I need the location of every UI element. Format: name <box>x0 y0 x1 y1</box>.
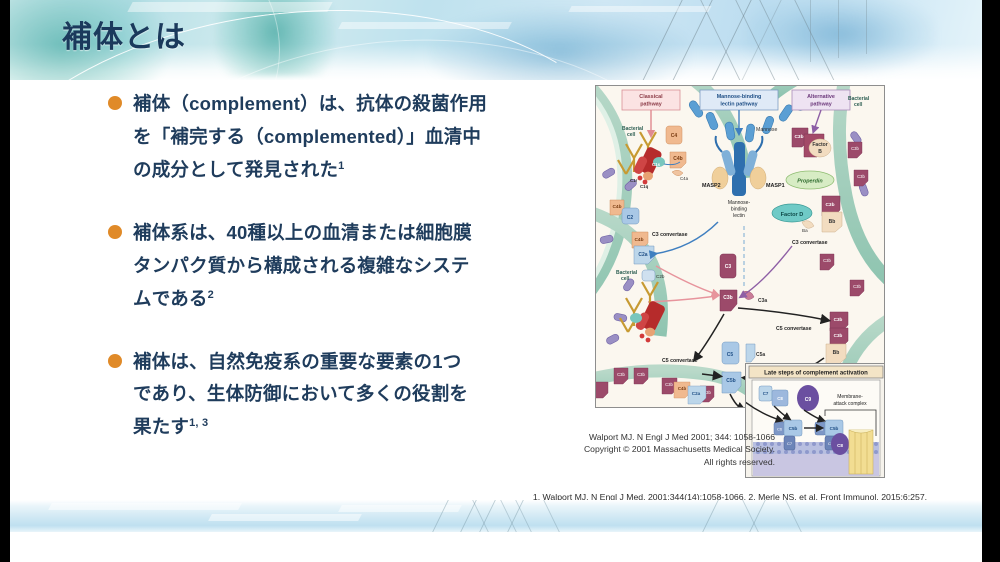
label-mac-line1: Membrane- <box>837 394 863 400</box>
label-alternative-pathway-line1: Alternative <box>807 94 835 100</box>
label-c1q: C1q <box>640 184 649 189</box>
label-bb-2: Bb <box>833 350 840 356</box>
label-ba: Ba <box>802 228 808 233</box>
bullet-3-superscript: 1, 3 <box>189 417 208 429</box>
label-inset-c8: C8 <box>777 396 783 401</box>
label-c4b-2: C4b <box>612 204 621 210</box>
bullet-1-line-1: 補体（complement）は、抗体の殺菌作用 <box>133 93 487 114</box>
label-inset-c5b-1: C5b <box>789 426 798 431</box>
bullet-dot-icon <box>108 225 122 239</box>
label-c4b-c5cl: C4b <box>678 386 687 391</box>
bullet-2-line-1: 補体系は、40種以上の血清または細胞膜 <box>133 222 472 243</box>
label-lectin-pathway-line1: Mannose-binding <box>717 94 762 100</box>
complement-pathway-figure: Classical pathway Mannose-binding lectin… <box>595 85 885 485</box>
label-alternative-pathway-line2: pathway <box>810 102 832 108</box>
pathway-diagram-svg: Classical pathway Mannose-binding lectin… <box>596 86 885 408</box>
header-stripe-1 <box>127 2 332 12</box>
label-classical-pathway-line1: Classical <box>639 94 663 100</box>
label-c3b-d2: C3b <box>857 174 865 179</box>
bullet-3-line-1: 補体は、自然免疫系の重要な要素の1つ <box>133 351 461 372</box>
bullet-text-3: 補体は、自然免疫系の重要な要素の1つ であり、生体防御において多くの役割を 果た… <box>133 346 468 445</box>
credit-line-3: All rights reserved. <box>540 456 775 468</box>
page-title: 補体とは <box>62 20 186 56</box>
label-c3-convertase-classical: C3 convertase <box>652 232 688 238</box>
label-factor-b-line2: B <box>818 149 822 155</box>
bullet-item-3: 補体は、自然免疫系の重要な要素の1つ であり、生体防御において多くの役割を 果た… <box>108 346 538 445</box>
label-c5a: C5a <box>756 352 765 358</box>
label-inset-title: Late steps of complement activation <box>764 371 868 377</box>
label-c2b: C2b <box>656 274 665 279</box>
label-c3b-d4: C3b <box>853 284 861 289</box>
bullet-1-line-3: の成分として発見された <box>133 159 338 180</box>
label-mbl-line3: lectin <box>733 213 745 219</box>
label-masp2: MASP2 <box>702 183 721 189</box>
label-bacterial-cell-2-line2: cell <box>854 102 863 108</box>
label-classical-pathway-line2: pathway <box>640 102 662 108</box>
label-c1r: C1r <box>630 178 638 183</box>
factor-d: Factor D <box>772 204 812 222</box>
label-inset-c7-2: C7 <box>787 441 793 446</box>
bullet-text-2: 補体系は、40種以上の血清または細胞膜 タンパク質から構成される複雑なシステ ム… <box>133 217 472 316</box>
label-factor-b-line1: Factor <box>812 142 827 148</box>
label-c1s: C1s <box>652 162 661 167</box>
bullet-dot-icon <box>108 354 122 368</box>
label-c3b-d5: C3b <box>617 372 625 377</box>
label-c5-convertase-classical: C5 convertase <box>662 358 698 364</box>
label-factor-d: Factor D <box>781 212 804 218</box>
label-c3b-c5conv-2: C3b <box>834 333 843 338</box>
properdin: Properdin <box>786 171 834 189</box>
bullet-3-line-3: 果たす <box>133 416 189 437</box>
label-inset-c6: C6 <box>777 427 783 432</box>
credit-line-2: Copyright © 2001 Massachusetts Medical S… <box>540 443 775 455</box>
label-mbl-line1: Mannose- <box>728 200 751 206</box>
label-inset-c7: C7 <box>763 391 769 396</box>
label-properdin: Properdin <box>797 179 823 185</box>
label-c3a: C3a <box>758 298 767 304</box>
label-c5: C5 <box>727 352 734 358</box>
label-mannose: Mannose <box>756 127 777 133</box>
label-inset-c9: C9 <box>805 397 812 403</box>
bullet-1-superscript: 1 <box>338 160 344 172</box>
header-vline-1 <box>810 0 811 62</box>
label-inset-c6-2: C6 <box>818 427 824 432</box>
label-c2a-c5cl: C2a <box>692 391 701 396</box>
label-c2a: C2a <box>638 252 647 258</box>
label-c3b-c5cl: C3b <box>665 382 673 387</box>
bullet-item-2: 補体系は、40種以上の血清または細胞膜 タンパク質から構成される複雑なシステ ム… <box>108 217 538 316</box>
label-c2: C2 <box>627 215 634 221</box>
bullet-1-line-2: を「補完する（complemented）」血清中 <box>133 126 481 147</box>
label-inset-c8-2: C8 <box>837 443 843 448</box>
label-c3b-d1: C3b <box>851 146 859 151</box>
footer-stripe-2 <box>208 514 362 521</box>
figure-credit: Walport MJ. N Engl J Med 2001; 344: 1058… <box>540 431 775 468</box>
header-vline-3 <box>866 0 867 54</box>
label-bb-1: Bb <box>829 219 836 225</box>
slide-footer-white <box>10 532 982 562</box>
bullet-2-line-3: ムである <box>133 288 208 309</box>
bullet-dot-icon <box>108 96 122 110</box>
figure-main-panel: Classical pathway Mannose-binding lectin… <box>595 85 885 408</box>
label-c3b-c5conv-1: C3b <box>834 317 843 322</box>
label-mbl-line2: binding <box>731 207 747 213</box>
label-c3b-alt2: C3b <box>825 202 834 208</box>
bullet-3-line-2: であり、生体防御において多くの役割を <box>133 383 468 404</box>
label-c3: C3 <box>725 264 732 270</box>
label-c4b: C4b <box>673 156 682 162</box>
bullet-text-1: 補体（complement）は、抗体の殺菌作用 を「補完する（complemen… <box>133 88 487 187</box>
footer-stripe-1 <box>48 503 242 510</box>
label-lectin-pathway-line2: lectin pathway <box>720 102 757 108</box>
label-c3b-central: C3b <box>723 295 732 301</box>
slide-footer-banner <box>10 500 982 532</box>
label-masp1: MASP1 <box>766 183 785 189</box>
label-c3b-d3: C3b <box>823 258 831 263</box>
pathway-label-boxes: Classical pathway Mannose-binding lectin… <box>622 90 850 110</box>
label-c4b-3: C4b <box>634 237 643 243</box>
label-c3b-alt1: C3b <box>794 134 803 140</box>
bullet-list: 補体（complement）は、抗体の殺菌作用 を「補完する（complemen… <box>108 88 538 474</box>
label-c5b: C5b <box>726 378 735 384</box>
label-c4a: C4a <box>680 176 689 181</box>
label-inset-c5b-2: C5b <box>830 426 839 431</box>
label-c5-convertase-alternative: C5 convertase <box>776 326 812 332</box>
label-c3-convertase-alternative: C3 convertase <box>792 240 828 246</box>
slide-canvas: 補体とは 補体（complement）は、抗体の殺菌作用 を「補完する（comp… <box>10 0 982 562</box>
label-bacterial-cell-1-line2: cell <box>627 132 636 138</box>
label-bacterial-cell-3-line2: cell <box>621 276 630 282</box>
bullet-item-1: 補体（complement）は、抗体の殺菌作用 を「補完する（complemen… <box>108 88 538 187</box>
header-vline-2 <box>838 0 839 58</box>
bullet-2-line-2: タンパク質から構成される複雑なシステ <box>133 255 470 276</box>
bullet-2-superscript: 2 <box>208 288 214 300</box>
label-c3b-d6: C3b <box>637 372 645 377</box>
header-stripe-3 <box>568 6 711 12</box>
header-stripe-2 <box>338 22 512 29</box>
label-c4: C4 <box>671 133 678 139</box>
label-mac-line2: attack complex <box>833 401 867 407</box>
credit-line-1: Walport MJ. N Engl J Med 2001; 344: 1058… <box>540 431 775 443</box>
